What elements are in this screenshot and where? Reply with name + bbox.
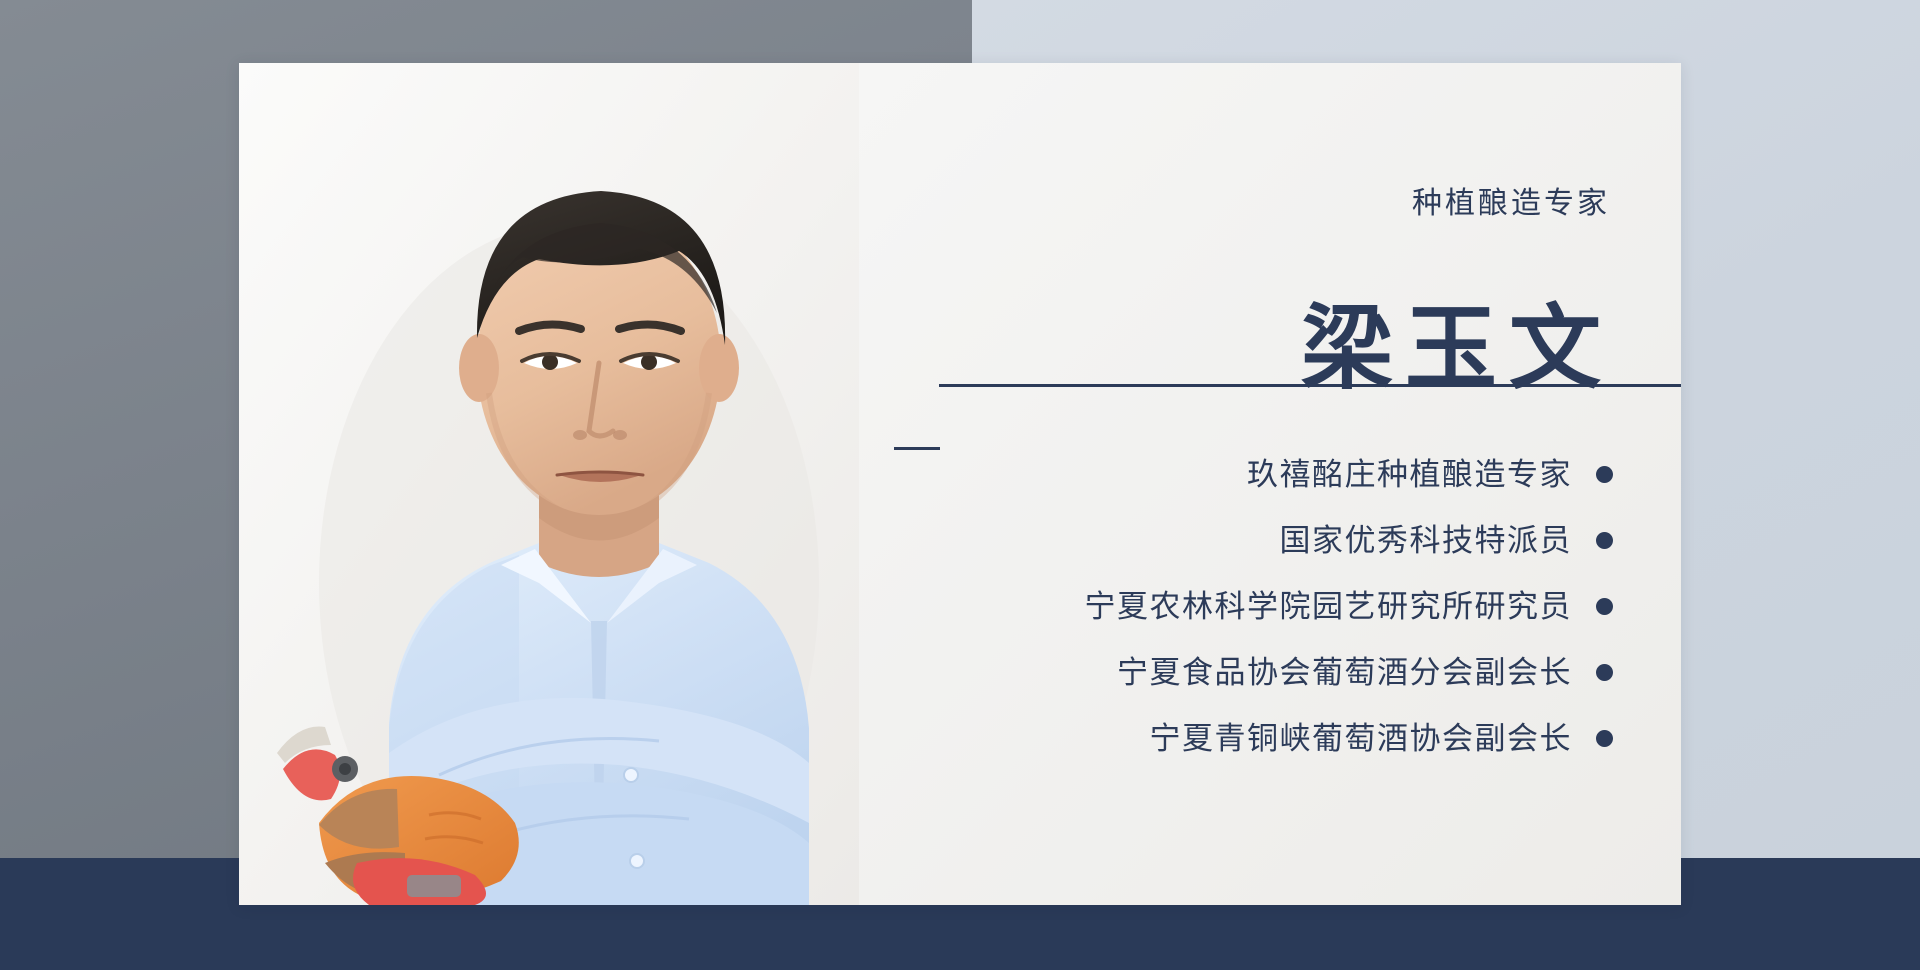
profile-card: 中年男性专家肖像，双臂交叉，身穿浅蓝色衬衫，戴橙色工作手套手持红色修枝剪: [239, 63, 1681, 905]
expert-info-column: 种植酿造专家 梁玉文 玖禧酩庄种植酿造专家 国家优秀科技特派员 宁夏农林科学院园…: [939, 63, 1681, 905]
list-item: 玖禧酩庄种植酿造专家: [1085, 447, 1614, 501]
list-item: 宁夏食品协会葡萄酒分会副会长: [1085, 645, 1614, 699]
bullet-dot-icon: [1596, 598, 1613, 615]
credential-label: 玖禧酩庄种植酿造专家: [1247, 459, 1572, 490]
profile-banner: 中年男性专家肖像，双臂交叉，身穿浅蓝色衬衫，戴橙色工作手套手持红色修枝剪: [0, 0, 1920, 970]
credential-list: 玖禧酩庄种植酿造专家 国家优秀科技特派员 宁夏农林科学院园艺研究所研究员 宁夏食…: [1085, 447, 1614, 765]
credential-label: 宁夏农林科学院园艺研究所研究员: [1085, 591, 1573, 622]
bullet-dot-icon: [1596, 664, 1613, 681]
title-divider-rule: [939, 384, 1681, 387]
bullet-dot-icon: [1596, 730, 1613, 747]
list-item: 宁夏农林科学院园艺研究所研究员: [1085, 579, 1614, 633]
bullet-dot-icon: [1596, 532, 1613, 549]
divider-rule-extension: [894, 447, 940, 450]
expert-name: 梁玉文: [1289, 303, 1613, 395]
credential-label: 国家优秀科技特派员: [1280, 525, 1573, 556]
credential-label: 宁夏食品协会葡萄酒分会副会长: [1117, 657, 1572, 688]
expert-subtitle: 种植酿造专家: [1412, 189, 1610, 219]
list-item: 国家优秀科技特派员: [1085, 513, 1614, 567]
expert-portrait-photo: 中年男性专家肖像，双臂交叉，身穿浅蓝色衬衫，戴橙色工作手套手持红色修枝剪: [239, 63, 859, 905]
credential-label: 宁夏青铜峡葡萄酒协会副会长: [1150, 723, 1573, 754]
bullet-dot-icon: [1596, 466, 1613, 483]
list-item: 宁夏青铜峡葡萄酒协会副会长: [1085, 711, 1614, 765]
